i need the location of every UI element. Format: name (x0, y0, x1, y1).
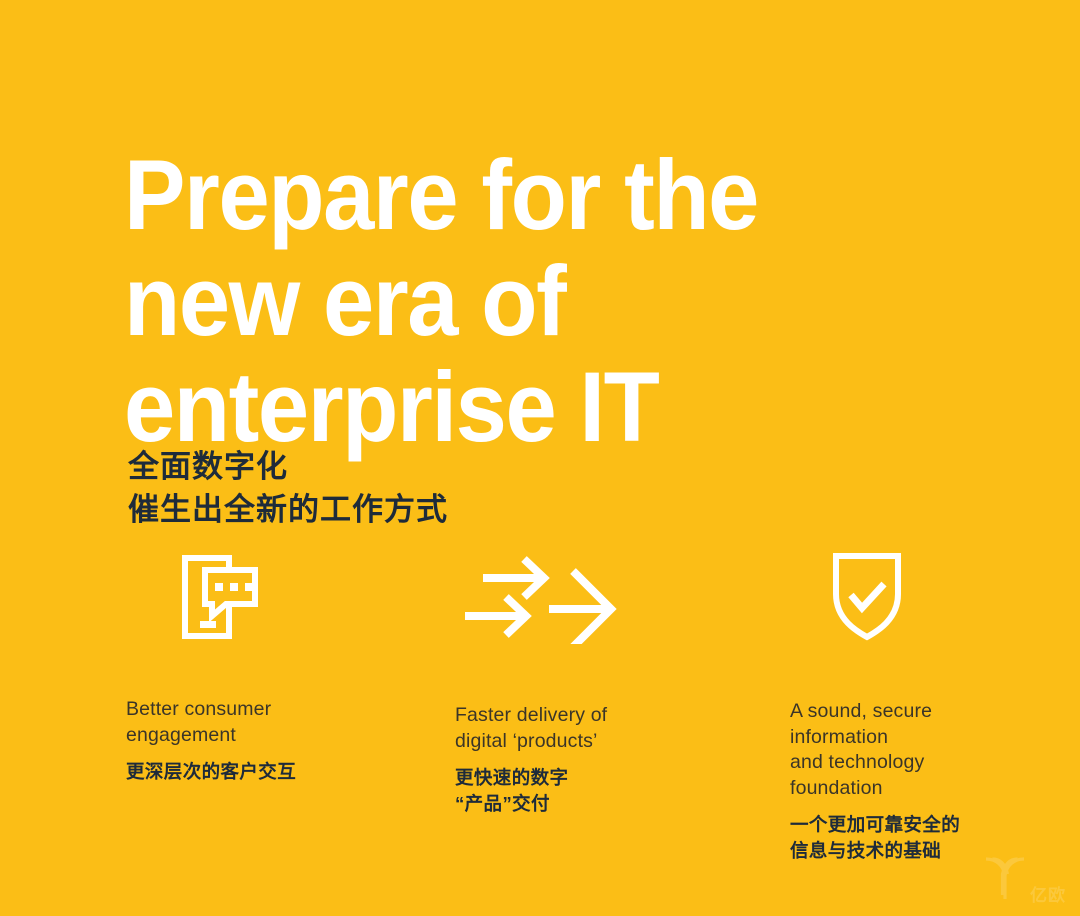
feature-column-faster-delivery: Faster delivery of digital ‘products’ 更快… (455, 548, 755, 817)
feature-caption-zh: 更深层次的客户交互 (126, 759, 426, 785)
yi-ou-logo-icon (983, 855, 1027, 906)
phone-chat-icon (126, 548, 426, 648)
slide-canvas: Prepare for the new era of enterprise IT… (0, 0, 1080, 916)
subtitle: 全面数字化 催生出全新的工作方式 (128, 445, 448, 531)
feature-column-consumer-engagement: Better consumer engagement 更深层次的客户交互 (126, 548, 426, 785)
watermark-text: 亿欧 (1030, 887, 1066, 906)
fast-arrows-icon (455, 548, 755, 654)
feature-caption-zh: 更快速的数字 “产品”交付 (455, 765, 755, 817)
feature-caption-en: A sound, secure information and technolo… (790, 699, 1040, 801)
page-title: Prepare for the new era of enterprise IT (124, 142, 905, 460)
shield-check-icon (790, 548, 1040, 650)
feature-caption-en: Better consumer engagement (126, 697, 426, 748)
feature-columns: Better consumer engagement 更深层次的客户交互 Fas… (0, 548, 1080, 868)
feature-caption-en: Faster delivery of digital ‘products’ (455, 703, 755, 754)
watermark: 亿欧 (983, 855, 1066, 906)
feature-column-secure-foundation: A sound, secure information and technolo… (790, 548, 1040, 864)
